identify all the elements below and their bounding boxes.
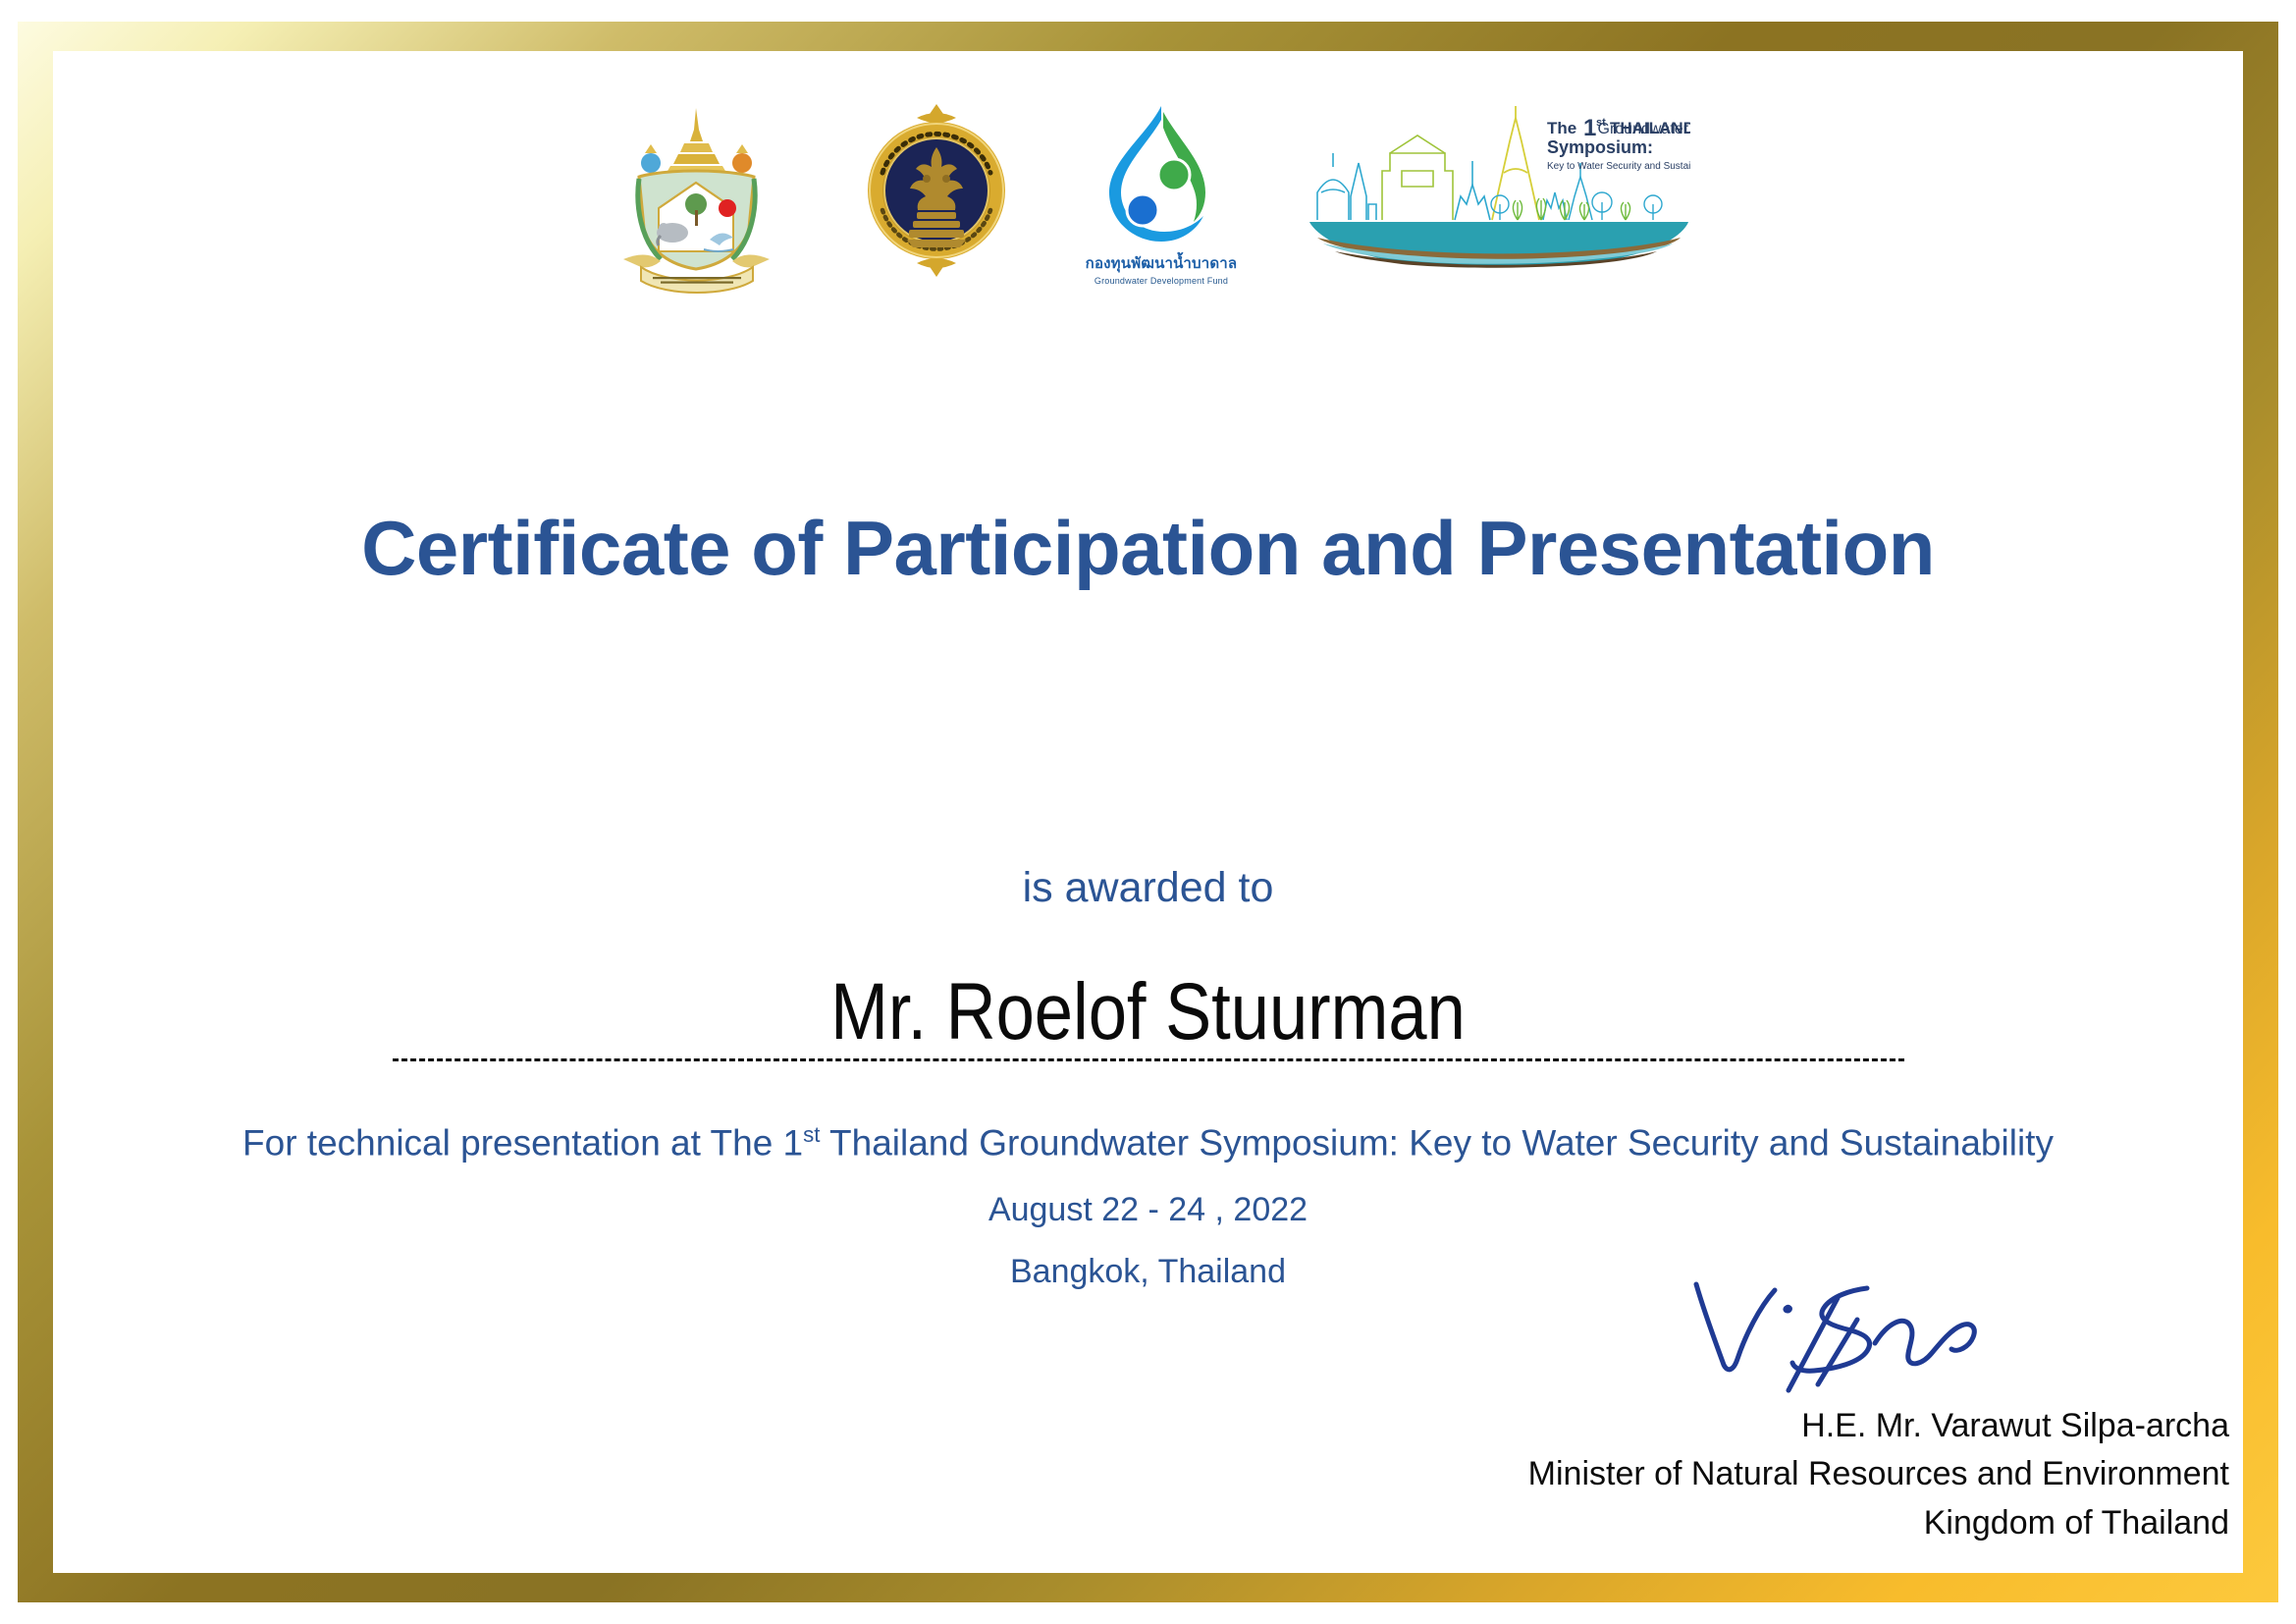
symposium-logo-text: The 1 st THAILAND Groundwater Symposium:…	[1547, 115, 1690, 172]
fund-caption-english: Groundwater Development Fund	[1095, 276, 1228, 286]
event-description: For technical presentation at The 1st Th…	[59, 1122, 2237, 1164]
svg-text:Symposium:: Symposium:	[1547, 137, 1653, 157]
svg-text:Groundwater: Groundwater	[1598, 121, 1689, 137]
signature-block: H.E. Mr. Varawut Silpa-archa Minister of…	[1483, 1255, 2229, 1547]
svg-text:The: The	[1547, 119, 1576, 137]
event-date: August 22 - 24 , 2022	[59, 1191, 2237, 1229]
fund-caption-thai: กองทุนพัฒนาน้ำบาดาล	[1086, 251, 1238, 275]
recipient-block: Mr. Roelof Stuurman	[59, 970, 2237, 1061]
certificate-content: กองทุนพัฒนาน้ำบาดาล Groundwater Developm…	[59, 57, 2237, 1567]
department-groundwater-seal-logo	[858, 102, 1015, 279]
signatory-country: Kingdom of Thailand	[1483, 1499, 2229, 1547]
ministry-emblem-logo	[606, 102, 787, 298]
event-description-ordinal: st	[803, 1122, 820, 1147]
recipient-underline	[393, 1058, 1904, 1061]
event-description-suffix: Thailand Groundwater Symposium: Key to W…	[820, 1122, 2054, 1163]
groundwater-development-fund-droplet-icon	[1095, 102, 1228, 249]
groundwater-development-fund-logo: กองทุนพัฒนาน้ำบาดาล Groundwater Developm…	[1086, 102, 1238, 286]
signatory-name: H.E. Mr. Varawut Silpa-archa	[1483, 1402, 2229, 1450]
logo-row: กองทุนพัฒนาน้ำบาดาล Groundwater Developm…	[59, 102, 2237, 308]
certificate-title: Certificate of Participation and Present…	[59, 504, 2237, 593]
recipient-name: Mr. Roelof Stuurman	[211, 970, 2084, 1055]
handwritten-signature-icon	[1665, 1274, 1989, 1402]
awarded-to-label: is awarded to	[59, 864, 2237, 912]
thailand-groundwater-symposium-logo: The 1 st THAILAND Groundwater Symposium:…	[1308, 102, 1690, 269]
event-description-prefix: For technical presentation at The 1	[242, 1122, 803, 1163]
signature-image-wrap	[1483, 1255, 2229, 1402]
thailand-groundwater-symposium-icon: The 1 st THAILAND Groundwater Symposium:…	[1308, 102, 1690, 269]
svg-text:Key to Water Security and Sust: Key to Water Security and Sustainability	[1547, 161, 1690, 172]
department-of-groundwater-resources-seal-icon	[858, 102, 1015, 279]
certificate-page: กองทุนพัฒนาน้ำบาดาล Groundwater Developm…	[0, 0, 2296, 1624]
signatory-role: Minister of Natural Resources and Enviro…	[1483, 1450, 2229, 1498]
ministry-of-natural-resources-emblem-icon	[606, 102, 787, 298]
